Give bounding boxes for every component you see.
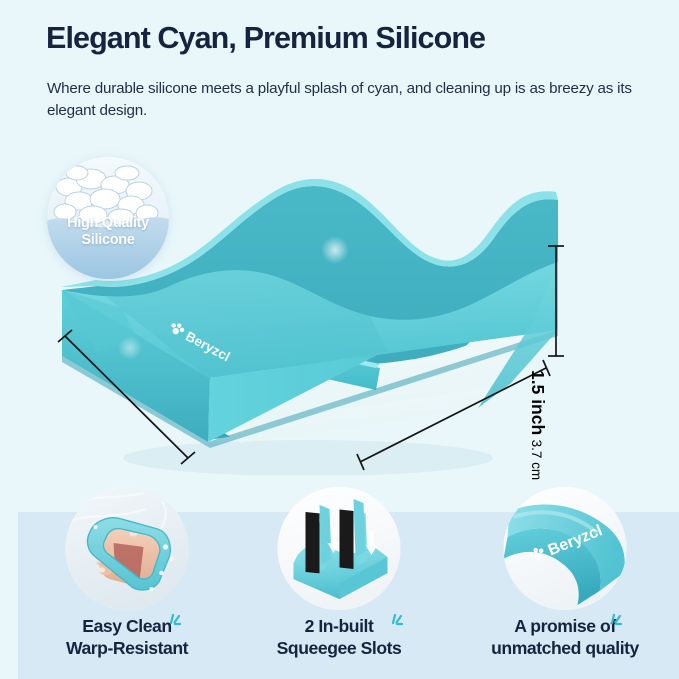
sparkle-icon: [384, 612, 404, 632]
branded-silicone-edge-icon: Beryzcl: [504, 487, 627, 610]
feature-card-unmatched-quality: Beryzcl A promise of unmatched quality: [452, 487, 678, 679]
header: Elegant Cyan, Premium Silicone Where dur…: [0, 0, 679, 145]
sparkle-icon: [603, 612, 623, 632]
dimension-height-cm: 3.7 cm: [529, 440, 544, 481]
page-subtitle: Where durable silicone meets a playful s…: [47, 78, 647, 122]
feature-1-line-1: 2 In-built: [305, 616, 374, 636]
squeegee-slots-icon: [278, 487, 401, 610]
feature-caption: 2 In-built Squeegee Slots: [226, 616, 452, 660]
feature-caption: A promise of unmatched quality: [452, 616, 678, 660]
feature-0-line-1: Easy Clean: [82, 616, 171, 636]
feature-2-line-2: unmatched quality: [491, 638, 639, 658]
feature-card-easy-clean: Easy Clean Warp-Resistant: [14, 487, 240, 679]
feature-1-line-2: Squeegee Slots: [277, 638, 402, 658]
badge-line-2: Silicone: [81, 232, 134, 248]
feature-0-line-2: Warp-Resistant: [66, 638, 188, 658]
high-quality-silicone-badge: High Quality Silicone: [47, 157, 169, 279]
hero-section: Beryzcl: [0, 140, 679, 495]
dimension-height-inch: 1.5 inch: [528, 370, 548, 435]
page-title: Elegant Cyan, Premium Silicone: [46, 22, 646, 56]
hand-squeezing-silicone-icon: [66, 487, 189, 610]
badge-text: High Quality Silicone: [47, 215, 169, 249]
feature-card-squeegee-slots: 2 In-built Squeegee Slots: [226, 487, 452, 679]
feature-2-line-1: A promise of: [514, 616, 615, 636]
feature-caption: Easy Clean Warp-Resistant: [14, 616, 240, 660]
feature-list: Easy Clean Warp-Resistant: [0, 487, 679, 679]
sparkle-icon: [162, 612, 182, 632]
dimension-height: 1.5 inch 3.7 cm: [556, 370, 586, 480]
badge-line-1: High Quality: [67, 215, 149, 231]
